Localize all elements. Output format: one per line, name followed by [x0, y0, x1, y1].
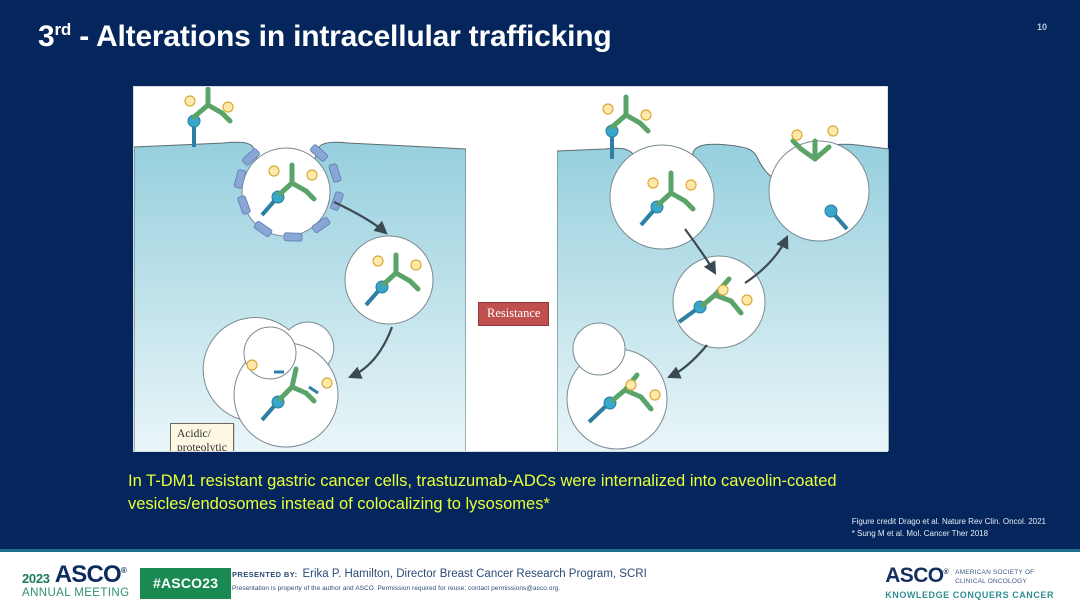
asco-tagline: KNOWLEDGE CONQUERS CANCER [885, 590, 1054, 600]
recycling-vesicle [769, 126, 869, 241]
figure-panel: Acidic/ proteolytic conditions Resistanc… [133, 86, 888, 452]
presenter-name: Erika P. Hamilton, Director Breast Cance… [303, 568, 647, 580]
resistance-zone [466, 87, 557, 451]
asco-logo: ASCO® AMERICAN SOCIETY OF CLINICAL ONCOL… [885, 565, 1054, 600]
page-title: 3rd - Alterations in intracellular traff… [38, 20, 612, 54]
permissions-disclaimer: Presentation is property of the author a… [232, 585, 647, 592]
left-cell-panel: Acidic/ proteolytic conditions [134, 87, 466, 451]
footer-bar: 2023 ASCO® ANNUAL MEETING #ASCO23 PRESEN… [0, 552, 1080, 608]
left-cell-diagram [134, 87, 466, 451]
endosome-vesicle [345, 236, 433, 324]
slide-root: 3rd - Alterations in intracellular traff… [0, 0, 1080, 608]
right-cell-diagram [557, 87, 889, 451]
meeting-brand: ASCO® [55, 564, 126, 586]
right-cell-panel: Endosome recycling Altered lysosomal env… [557, 87, 889, 451]
hashtag-badge: #ASCO23 [140, 568, 231, 599]
meeting-subtitle: ANNUAL MEETING [22, 587, 142, 599]
resistance-badge: Resistance [478, 302, 549, 326]
figure-credits: Figure credit Drago et al. Nature Rev Cl… [852, 516, 1046, 539]
slide-caption: In T-DM1 resistant gastric cancer cells,… [128, 470, 958, 517]
title-rest: - Alterations in intracellular trafficki… [71, 20, 611, 53]
antibody-surface [185, 89, 233, 147]
title-prefix: 3 [38, 20, 55, 53]
meeting-year: 2023 [22, 571, 50, 586]
asco-annual-meeting-logo: 2023 ASCO® ANNUAL MEETING [22, 564, 142, 599]
callout-acidic-proteolytic: Acidic/ proteolytic conditions [170, 423, 234, 451]
right-endosome [673, 256, 765, 348]
presenter-block: PRESENTED BY: Erika P. Hamilton, Directo… [232, 568, 647, 592]
asco-logo-brand: ASCO® [885, 565, 948, 586]
right-top-left-vesicle [603, 97, 714, 249]
asco-full-name: AMERICAN SOCIETY OF CLINICAL ONCOLOGY [955, 565, 1034, 587]
page-number: 10 [1037, 22, 1047, 32]
presented-by-label: PRESENTED BY: [232, 570, 298, 579]
title-ordinal-suffix: rd [55, 20, 72, 39]
